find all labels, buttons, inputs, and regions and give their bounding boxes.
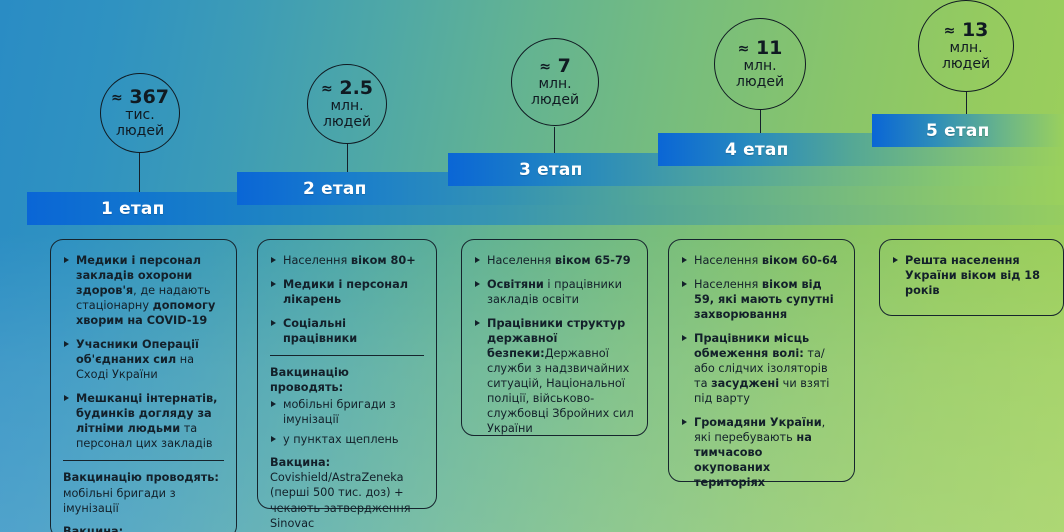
- card-footer-block: Вакцина:Covishield/AstraZeneka (перші 50…: [63, 524, 224, 532]
- card-footer-text: Covishield/AstraZeneka (перші 500 тис. д…: [270, 470, 424, 530]
- stage-card-1: Медики і персонал закладів охорони здоро…: [50, 239, 237, 532]
- population-bubble-stage-3: ≈ 7 млн. людей: [511, 38, 599, 126]
- population-value-4: 11: [756, 37, 782, 59]
- list-item: Учасники Операції об'єднаних сил на Сход…: [63, 337, 224, 382]
- stage-bar-5[interactable]: 5 етап: [872, 114, 1064, 147]
- stage-bar-3-label: 3 етап: [519, 160, 583, 180]
- population-value-1: 367: [129, 86, 169, 108]
- population-value-5: 13: [962, 19, 988, 41]
- bullet-text-emphasis: Освітяни: [487, 278, 544, 291]
- bullet-text-emphasis: віком 65-79: [555, 254, 631, 267]
- population-bubble-1-value: ≈ 367: [111, 87, 169, 108]
- list-item: у пунктах щеплень: [270, 432, 424, 447]
- list-item: Мешканці інтернатів, будинків догляду за…: [63, 391, 224, 451]
- approx-symbol-1: ≈: [111, 90, 123, 106]
- stage-2-bullet-list: Населення віком 80+Медики і персонал лік…: [270, 253, 424, 346]
- card-footer-title: Вакцина:: [63, 524, 224, 532]
- bullet-text-emphasis: Громадяни України: [694, 416, 822, 429]
- population-unit-3-line2: людей: [531, 93, 579, 109]
- list-item: Працівники структур державної безпеки:Де…: [474, 316, 635, 436]
- stage-card-4: Населення віком 60-64Населення віком від…: [668, 239, 855, 482]
- population-unit-2-line2: людей: [323, 115, 371, 131]
- card-footer-block: Вакцинацію проводять:мобільні бригади з …: [270, 365, 424, 447]
- bullet-text-emphasis: Решта населення України віком від 18 рок…: [905, 254, 1040, 297]
- population-bubble-stage-1: ≈ 367 тис. людей: [100, 73, 180, 153]
- list-item: мобільні бригади з імунізації: [270, 397, 424, 427]
- stage-bar-4-label: 4 етап: [725, 140, 789, 160]
- connector-line-stage-5: [966, 92, 967, 114]
- stage-bar-1-label: 1 етап: [101, 199, 165, 219]
- stage-card-3: Населення віком 65-79Освітяни і працівни…: [461, 239, 648, 436]
- bullet-text-emphasis: Працівники місць обмеження волі:: [694, 332, 809, 360]
- bullet-text: Населення: [694, 278, 762, 291]
- population-unit-1-line2: людей: [116, 124, 164, 140]
- population-bubble-4-value: ≈ 11: [738, 38, 783, 59]
- population-bubble-3-value: ≈ 7: [539, 56, 571, 77]
- bullet-text: Населення: [694, 254, 762, 267]
- stage-bar-2-label: 2 етап: [303, 179, 367, 199]
- population-bubble-stage-5: ≈ 13 млн. людей: [918, 0, 1014, 92]
- population-unit-1-line1: тис.: [125, 108, 154, 124]
- card-footer-block: Вакцинацію проводять:мобільні бригади з …: [63, 470, 224, 515]
- population-bubble-2-value: ≈ 2.5: [321, 78, 373, 99]
- bullet-text-emphasis: засуджені: [711, 377, 779, 390]
- stage-3-bullet-list: Населення віком 65-79Освітяни і працівни…: [474, 253, 635, 436]
- population-bubble-stage-2: ≈ 2.5 млн. людей: [307, 64, 387, 144]
- card-footer-list: мобільні бригади з імунізаціїу пунктах щ…: [270, 397, 424, 447]
- connector-line-stage-3: [554, 127, 555, 153]
- population-value-3: 7: [558, 55, 571, 77]
- population-unit-4-line2: людей: [736, 75, 784, 91]
- population-bubble-stage-4: ≈ 11 млн. людей: [714, 18, 806, 110]
- list-item: Освітяни і працівники закладів освіти: [474, 277, 635, 307]
- stage-1-bullet-list: Медики і персонал закладів охорони здоро…: [63, 253, 224, 451]
- approx-symbol-2: ≈: [321, 81, 333, 97]
- list-item: Населення віком від 59, які мають супутн…: [681, 277, 842, 322]
- population-value-2: 2.5: [339, 77, 373, 99]
- list-item: Медики і персонал лікарень: [270, 277, 424, 307]
- card-footer-block: Вакцина:Covishield/AstraZeneka (перші 50…: [270, 455, 424, 530]
- approx-symbol-3: ≈: [539, 59, 551, 75]
- card-footer-title: Вакцина:: [270, 455, 424, 470]
- bullet-text-emphasis: Медики і персонал лікарень: [283, 278, 408, 306]
- population-unit-4-line1: млн.: [743, 59, 776, 75]
- population-unit-5-line1: млн.: [949, 41, 982, 57]
- list-item: Населення віком 60-64: [681, 253, 842, 268]
- stage-bar-5-label: 5 етап: [926, 121, 990, 141]
- population-unit-2-line1: млн.: [330, 99, 363, 115]
- card-footer-title: Вакцинацію проводять:: [63, 470, 224, 485]
- card-divider: [270, 355, 424, 356]
- list-item: Працівники місць обмеження волі: та/або …: [681, 331, 842, 406]
- list-item: Населення віком 80+: [270, 253, 424, 268]
- card-divider: [63, 460, 224, 461]
- card-footer-title: Вакцинацію проводять:: [270, 365, 424, 395]
- list-item: Населення віком 65-79: [474, 253, 635, 268]
- infographic-canvas: 1 етап 2 етап 3 етап 4 етап 5 етап ≈ 367…: [0, 0, 1064, 532]
- bullet-text-emphasis: Соціальні працівники: [283, 317, 357, 345]
- connector-line-stage-4: [760, 110, 761, 133]
- bullet-text: Населення: [487, 254, 555, 267]
- bullet-text-emphasis: віком 80+: [351, 254, 416, 267]
- population-unit-5-line2: людей: [942, 57, 990, 73]
- list-item: Медики і персонал закладів охорони здоро…: [63, 253, 224, 328]
- population-unit-3-line1: млн.: [538, 77, 571, 93]
- list-item: Решта населення України віком від 18 рок…: [892, 253, 1051, 298]
- card-footer-text: мобільні бригади з імунізації: [63, 486, 224, 516]
- bullet-text-emphasis: віком 60-64: [762, 254, 838, 267]
- bullet-text: Населення: [283, 254, 351, 267]
- list-item: Громадяни України, які перебувають на ти…: [681, 415, 842, 490]
- approx-symbol-4: ≈: [738, 41, 750, 57]
- connector-line-stage-1: [139, 152, 140, 192]
- population-bubble-5-value: ≈ 13: [944, 20, 989, 41]
- bullet-text: Державної служби з надзвичайних ситуацій…: [487, 347, 634, 435]
- stage-card-2: Населення віком 80+Медики і персонал лік…: [257, 239, 437, 509]
- stage-5-bullet-list: Решта населення України віком від 18 рок…: [892, 253, 1051, 298]
- stage-4-bullet-list: Населення віком 60-64Населення віком від…: [681, 253, 842, 490]
- connector-line-stage-2: [347, 143, 348, 172]
- approx-symbol-5: ≈: [944, 23, 956, 39]
- stage-card-5: Решта населення України віком від 18 рок…: [879, 239, 1064, 316]
- list-item: Соціальні працівники: [270, 316, 424, 346]
